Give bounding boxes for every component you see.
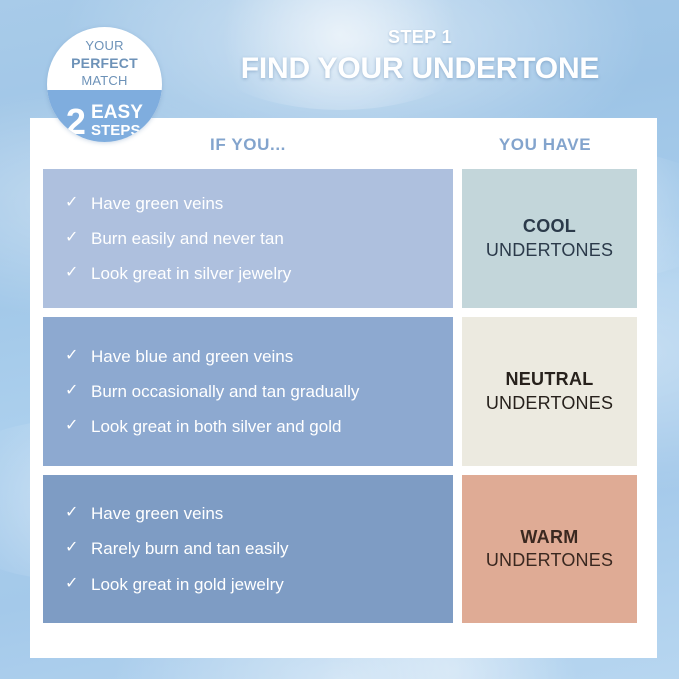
criteria-panel: ✓ Have green veins ✓ Burn easily and nev…	[43, 169, 453, 308]
list-item: ✓ Look great in silver jewelry	[65, 263, 437, 284]
criterion-text: Look great in both silver and gold	[91, 416, 437, 437]
criterion-text: Burn easily and never tan	[91, 228, 437, 249]
infographic-poster: STEP 1 FIND YOUR UNDERTONE YOUR PERFECT …	[0, 0, 679, 679]
table-row: ✓ Have green veins ✓ Burn easily and nev…	[43, 169, 637, 308]
badge-steps-stack: EASY STEPS	[91, 103, 143, 139]
criterion-text: Have green veins	[91, 503, 437, 524]
check-icon: ✓	[65, 503, 91, 523]
badge-line-match: MATCH	[47, 73, 162, 90]
check-icon: ✓	[65, 346, 91, 366]
table-row: ✓ Have green veins ✓ Rarely burn and tan…	[43, 475, 637, 623]
check-icon: ✓	[65, 538, 91, 558]
column-heading-if-you: IF YOU...	[43, 135, 453, 155]
column-headings: IF YOU... YOU HAVE	[43, 135, 637, 155]
swatch-name: NEUTRAL	[505, 368, 593, 391]
swatch-subtitle: UNDERTONES	[486, 549, 613, 572]
criterion-text: Have green veins	[91, 193, 437, 214]
undertone-swatch-neutral: NEUTRAL UNDERTONES	[462, 317, 637, 466]
swatch-name: COOL	[523, 215, 576, 238]
check-icon: ✓	[65, 381, 91, 401]
list-item: ✓ Have green veins	[65, 503, 437, 524]
badge-bottom-text: 2 EASY STEPS	[47, 103, 162, 139]
list-item: ✓ Look great in both silver and gold	[65, 416, 437, 437]
check-icon: ✓	[65, 416, 91, 436]
poster-header: STEP 1 FIND YOUR UNDERTONE	[175, 28, 665, 85]
row-gap	[453, 475, 462, 623]
list-item: ✓ Burn occasionally and tan gradually	[65, 381, 437, 402]
swatch-subtitle: UNDERTONES	[486, 392, 613, 415]
criteria-panel: ✓ Have green veins ✓ Rarely burn and tan…	[43, 475, 453, 623]
badge-line-perfect: PERFECT	[47, 55, 162, 73]
list-item: ✓ Have blue and green veins	[65, 346, 437, 367]
swatch-name: WARM	[520, 526, 578, 549]
check-icon: ✓	[65, 228, 91, 248]
badge-line-your: YOUR	[47, 38, 162, 55]
check-icon: ✓	[65, 574, 91, 594]
list-item: ✓ Have green veins	[65, 193, 437, 214]
column-heading-you-have: YOU HAVE	[453, 135, 637, 155]
criterion-text: Look great in gold jewelry	[91, 574, 437, 595]
perfect-match-badge: YOUR PERFECT MATCH 2 EASY STEPS	[47, 27, 162, 142]
list-item: ✓ Rarely burn and tan easily	[65, 538, 437, 559]
swatch-subtitle: UNDERTONES	[486, 239, 613, 262]
check-icon: ✓	[65, 193, 91, 213]
badge-top-text: YOUR PERFECT MATCH	[47, 38, 162, 89]
page-title: FIND YOUR UNDERTONE	[175, 53, 665, 85]
undertone-rows: ✓ Have green veins ✓ Burn easily and nev…	[43, 169, 637, 623]
undertone-swatch-cool: COOL UNDERTONES	[462, 169, 637, 308]
step-label: STEP 1	[175, 28, 665, 48]
table-row: ✓ Have blue and green veins ✓ Burn occas…	[43, 317, 637, 466]
criterion-text: Look great in silver jewelry	[91, 263, 437, 284]
list-item: ✓ Look great in gold jewelry	[65, 574, 437, 595]
badge-line-easy: EASY	[91, 102, 143, 123]
badge-step-count: 2	[66, 105, 86, 138]
criterion-text: Have blue and green veins	[91, 346, 437, 367]
undertone-swatch-warm: WARM UNDERTONES	[462, 475, 637, 623]
row-gap	[453, 317, 462, 466]
list-item: ✓ Burn easily and never tan	[65, 228, 437, 249]
criterion-text: Burn occasionally and tan gradually	[91, 381, 437, 402]
criterion-text: Rarely burn and tan easily	[91, 538, 437, 559]
criteria-panel: ✓ Have blue and green veins ✓ Burn occas…	[43, 317, 453, 466]
row-gap	[453, 169, 462, 308]
check-icon: ✓	[65, 263, 91, 283]
